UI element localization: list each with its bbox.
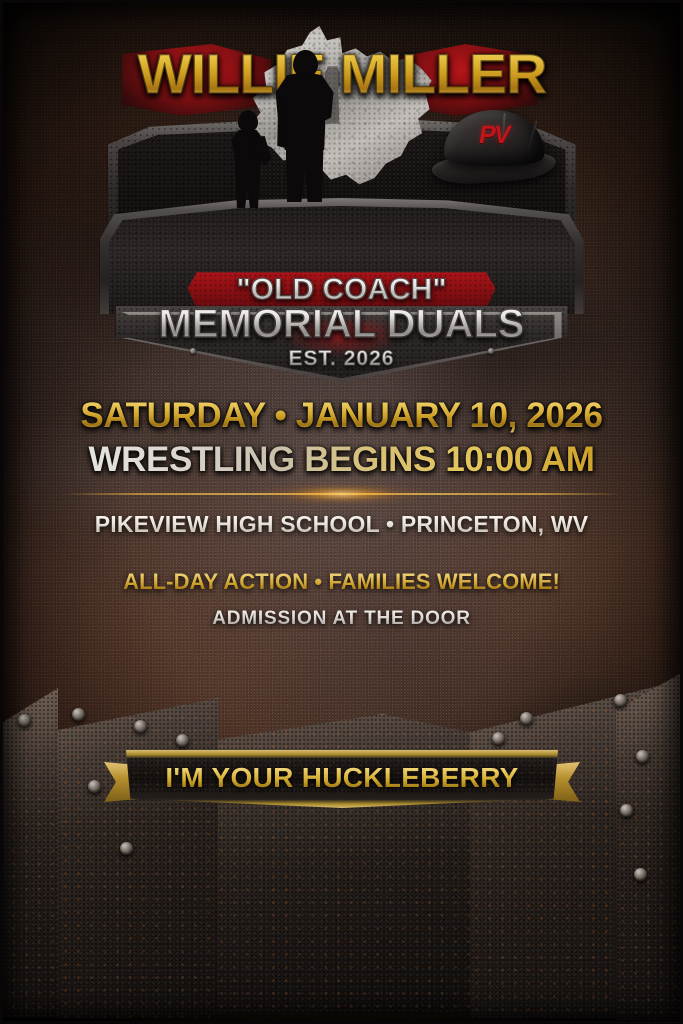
metal-plate-right-edge [616, 668, 683, 1020]
father-silhouette-icon [274, 50, 336, 202]
rivet-icon [176, 734, 189, 747]
metal-plate-group [0, 672, 683, 1024]
rivet-icon [18, 714, 31, 727]
rivet-icon [492, 732, 505, 745]
father-arm [272, 96, 288, 148]
rivet-icon [620, 804, 633, 817]
event-action-line: ALL-DAY ACTION • FAMILIES WELCOME! [0, 569, 683, 595]
event-details-block: SATURDAY • JANUARY 10, 2026 WRESTLING BE… [0, 396, 683, 631]
metal-plate-left-edge [0, 688, 58, 1018]
emblem-title-name: WILLIE MILLER [87, 46, 597, 102]
event-logo-emblem: PV WILLIE MILLER "OLD COACH" MEMORIAL DU… [92, 22, 592, 382]
child-head [238, 110, 258, 132]
event-venue-line: PIKEVIEW HIGH SCHOOL • PRINCETON, WV [0, 511, 683, 539]
cap-seam-two [524, 120, 537, 159]
gold-divider [64, 492, 620, 497]
rivet-icon [636, 750, 649, 763]
rivet-icon [614, 694, 627, 707]
rivet-icon [72, 708, 85, 721]
event-poster: PV WILLIE MILLER "OLD COACH" MEMORIAL DU… [0, 0, 683, 1024]
child-legs [236, 172, 260, 208]
gold-divider-glow [247, 483, 437, 505]
rivet-icon [134, 720, 147, 733]
rivet-icon [120, 842, 133, 855]
child-silhouette-icon [228, 110, 268, 206]
emblem-title-duals: MEMORIAL DUALS [92, 304, 592, 344]
emblem-established-year: EST. 2026 [92, 348, 592, 369]
rivet-icon [634, 868, 647, 881]
tagline-text: I'M YOUR HUCKLEBERRY [126, 763, 558, 794]
event-date-line: SATURDAY • JANUARY 10, 2026 [0, 396, 683, 435]
cap-pv-logo: PV [469, 120, 518, 150]
father-legs [286, 144, 324, 202]
metal-plate-left-edge-texture [0, 688, 58, 1018]
event-time-line: WRESTLING BEGINS 10:00 AM [0, 440, 683, 479]
metal-plate-right-edge-texture [616, 668, 683, 1020]
rivet-icon [88, 780, 101, 793]
event-admission-line: ADMISSION AT THE DOOR [0, 608, 683, 631]
baseball-cap-icon: PV [432, 110, 556, 182]
tagline-ribbon: I'M YOUR HUCKLEBERRY [104, 750, 580, 812]
rivet-icon [520, 712, 533, 725]
